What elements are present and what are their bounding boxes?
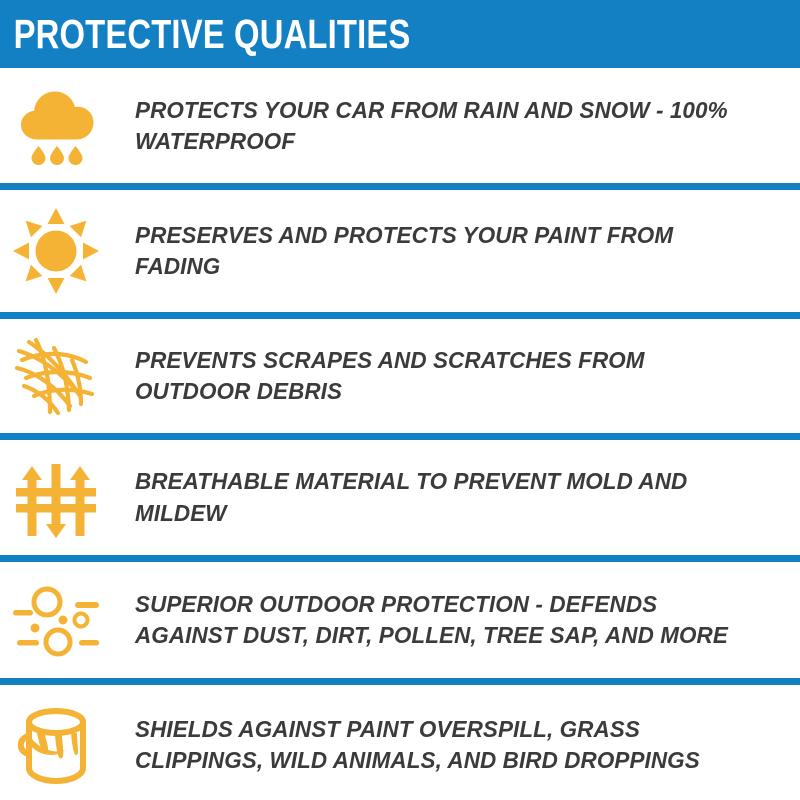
protective-qualities-infographic: PROTECTIVE QUALITIES [0,0,800,800]
list-item-label: PROTECTS YOUR CAR FROM RAIN AND SNOW - 1… [135,95,757,158]
sun-icon [13,208,99,294]
text-cell: PREVENTS SCRAPES AND SCRATCHES FROM OUTD… [112,345,800,408]
list-item: BREATHABLE MATERIAL TO PREVENT MOLD AND … [0,440,800,555]
text-cell: BREATHABLE MATERIAL TO PREVENT MOLD AND … [112,466,800,529]
list-item-label: BREATHABLE MATERIAL TO PREVENT MOLD AND … [135,466,757,529]
row-divider [0,678,800,685]
list-item: SHIELDS AGAINST PAINT OVERSPILL, GRASS C… [0,685,800,800]
text-cell: SUPERIOR OUTDOOR PROTECTION - DEFENDS AG… [112,589,800,652]
icon-cell [0,440,112,555]
airflow-arrows-icon [16,456,96,540]
list-item-label: SUPERIOR OUTDOOR PROTECTION - DEFENDS AG… [135,589,757,652]
row-divider [0,555,800,562]
list-item-label: PREVENTS SCRAPES AND SCRATCHES FROM OUTD… [135,345,757,408]
icon-cell [0,685,112,800]
paint-can-icon [15,702,97,788]
page-title: PROTECTIVE QUALITIES [0,14,410,55]
text-cell: PRESERVES AND PROTECTS YOUR PAINT FROM F… [112,220,800,283]
text-cell: PROTECTS YOUR CAR FROM RAIN AND SNOW - 1… [112,95,800,158]
text-cell: SHIELDS AGAINST PAINT OVERSPILL, GRASS C… [112,714,800,777]
header-bar: PROTECTIVE QUALITIES [0,0,800,68]
icon-cell [0,69,112,183]
rain-cloud-icon [17,86,95,166]
row-divider [0,183,800,190]
list-item-label: SHIELDS AGAINST PAINT OVERSPILL, GRASS C… [135,714,757,777]
row-divider [0,433,800,440]
icon-cell [0,562,112,678]
list-item: PROTECTS YOUR CAR FROM RAIN AND SNOW - 1… [0,69,800,183]
scratches-icon [14,334,98,418]
list-item: PRESERVES AND PROTECTS YOUR PAINT FROM F… [0,190,800,312]
list-item: SUPERIOR OUTDOOR PROTECTION - DEFENDS AG… [0,562,800,678]
icon-cell [0,319,112,433]
list-item: PREVENTS SCRAPES AND SCRATCHES FROM OUTD… [0,319,800,433]
dust-particles-icon [13,582,99,658]
row-divider [0,312,800,319]
feature-list: PROTECTS YOUR CAR FROM RAIN AND SNOW - 1… [0,69,800,800]
list-item-label: PRESERVES AND PROTECTS YOUR PAINT FROM F… [135,220,757,283]
icon-cell [0,190,112,312]
